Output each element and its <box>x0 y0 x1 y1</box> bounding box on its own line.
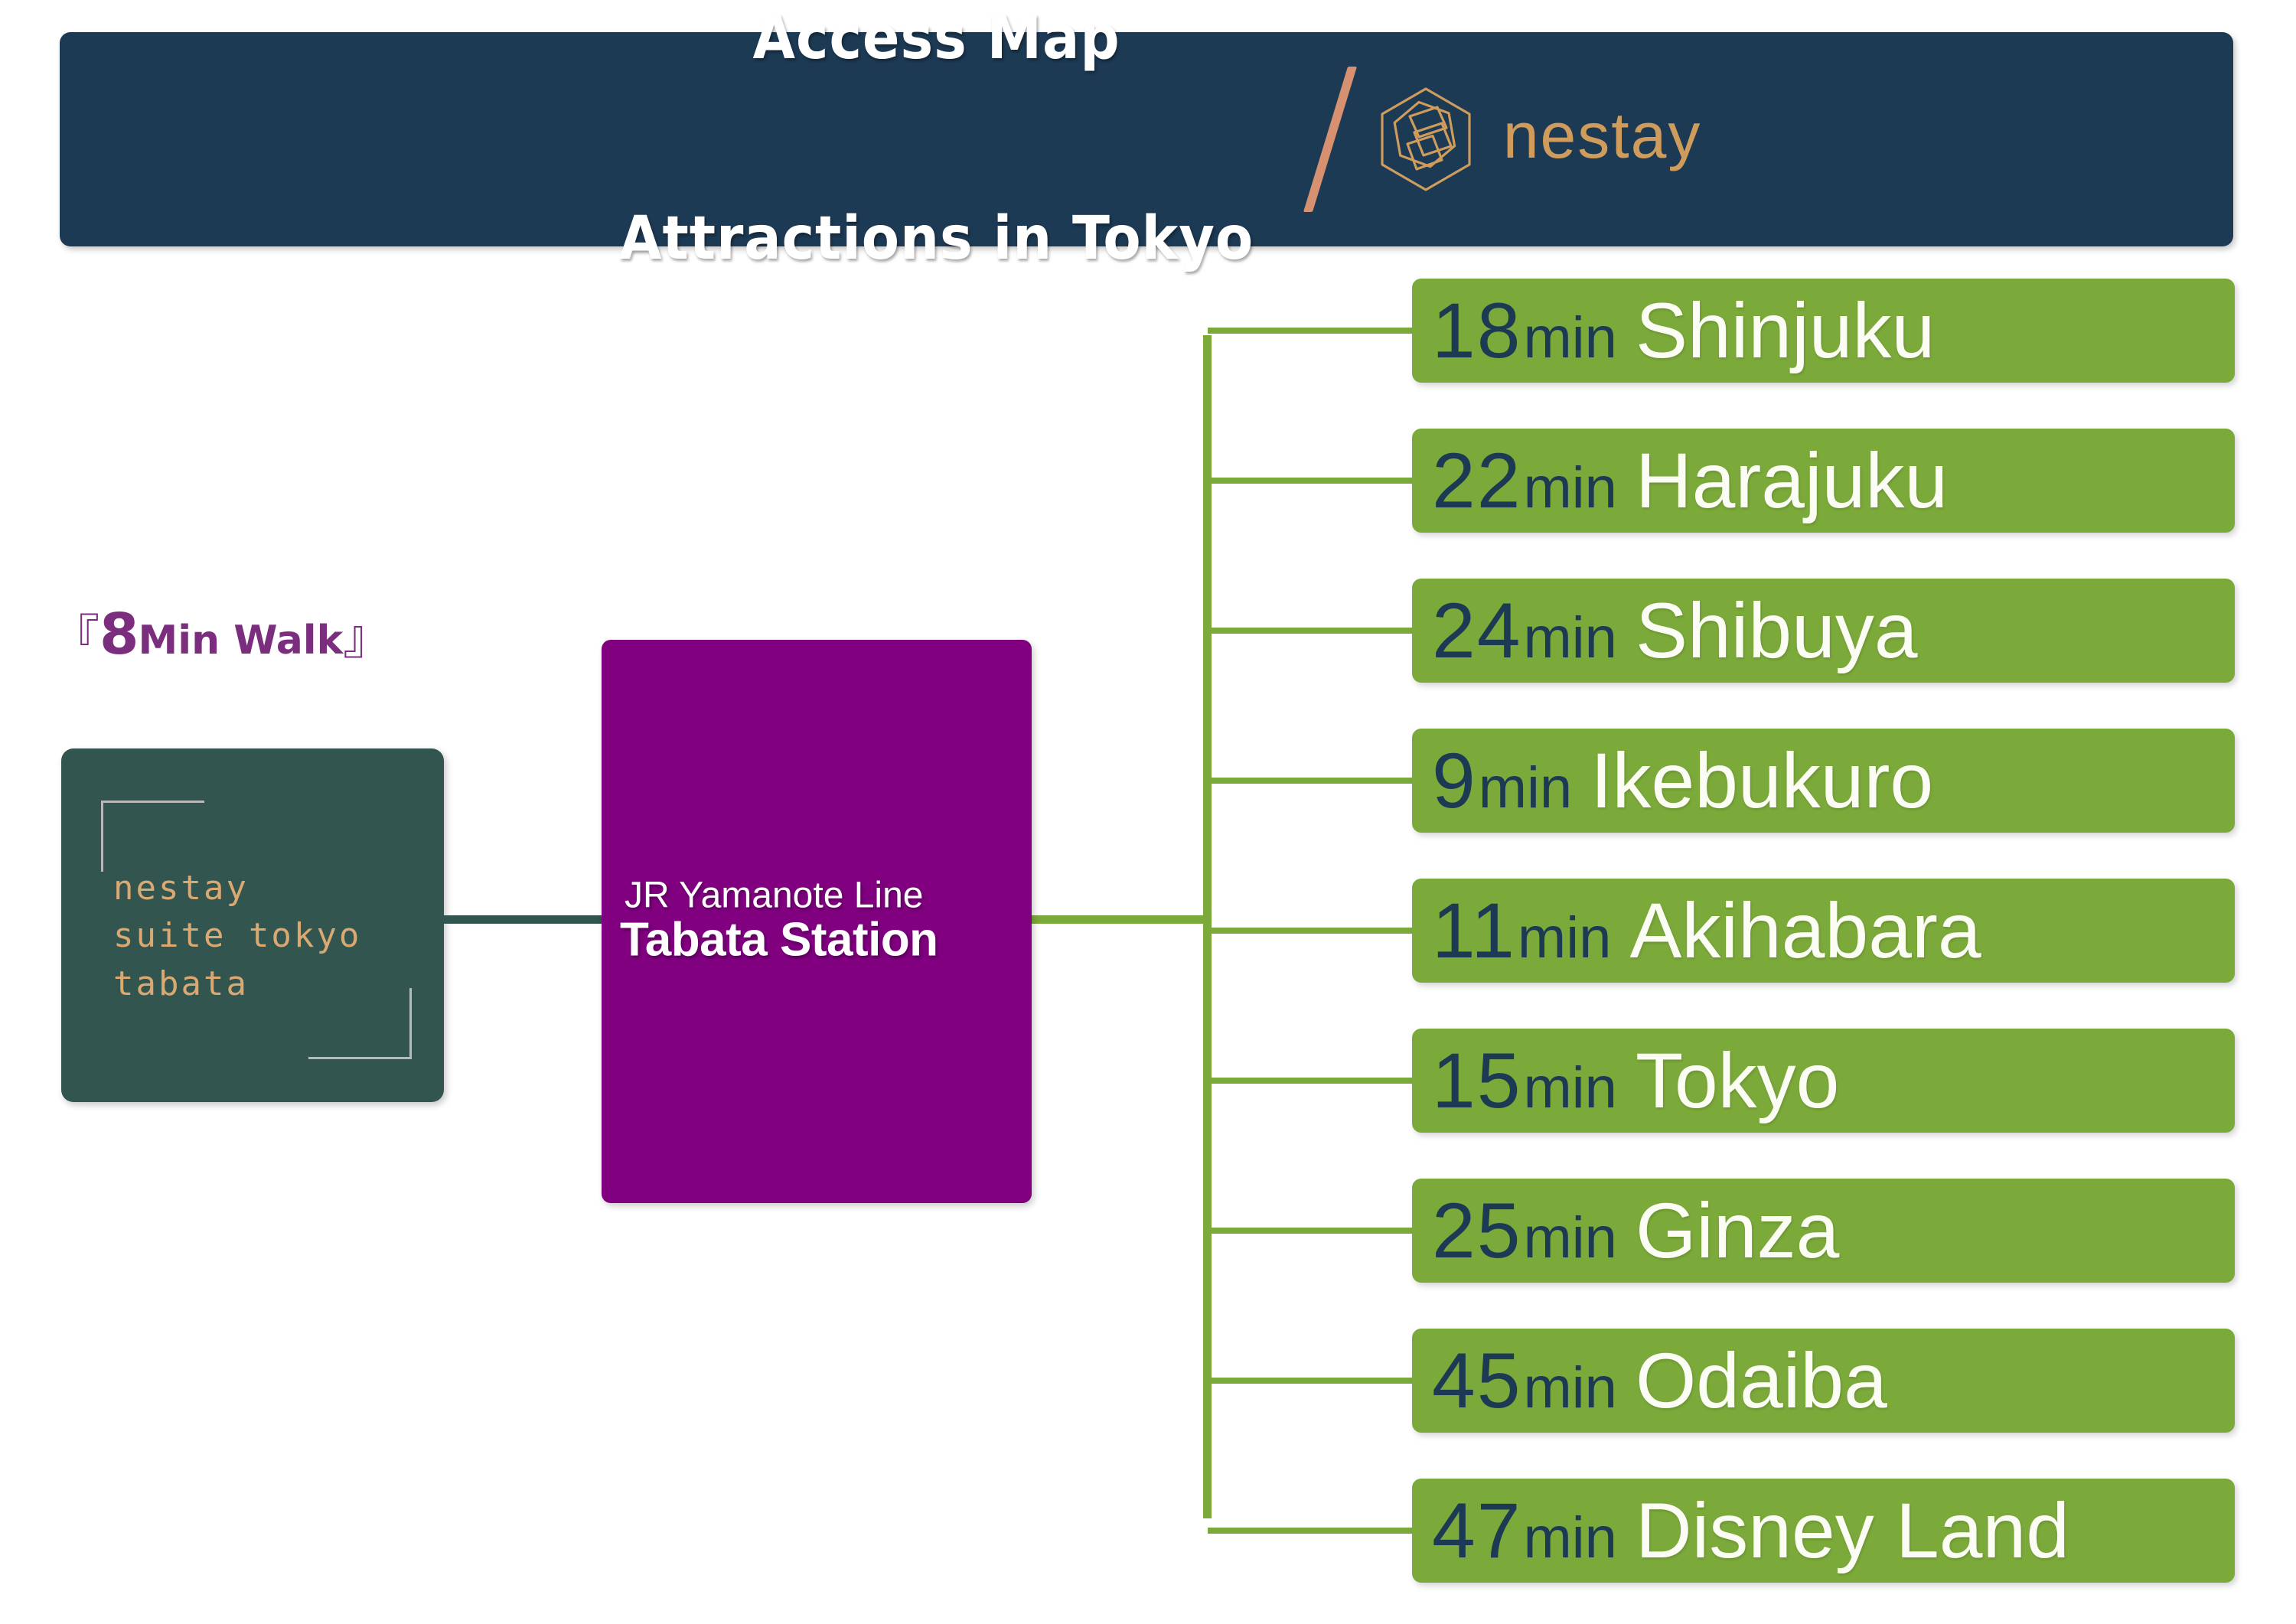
destination-name: Akihabara <box>1629 892 1981 970</box>
destination-bar-odaiba[interactable]: 45minOdaiba <box>1412 1329 2235 1433</box>
station-card: JR Yamanote Line Tabata Station <box>602 640 1032 1203</box>
destination-minutes: 47 <box>1432 1492 1521 1570</box>
destination-bar-shibuya[interactable]: 24minShibuya <box>1412 579 2235 683</box>
branch-connector-disney-land <box>1208 1528 1416 1534</box>
header-content: Access Map Attractions in Tokyo nestay <box>60 32 2233 246</box>
brand-logo: nestay <box>1368 82 1702 197</box>
destination-bar-ginza[interactable]: 25minGinza <box>1412 1179 2235 1283</box>
branch-connector-harajuku <box>1208 478 1416 484</box>
destination-minutes-unit: min <box>1518 909 1611 967</box>
destination-row: 18minShinjuku <box>1412 292 1935 370</box>
destination-row: 25minGinza <box>1412 1192 1839 1270</box>
walk-label-text: Min Walk <box>139 621 344 660</box>
destination-name: Harajuku <box>1636 442 1948 520</box>
destination-row: 45minOdaiba <box>1412 1342 1887 1420</box>
branch-connector-tokyo <box>1208 1078 1416 1084</box>
station-name: Tabata Station <box>608 915 1055 967</box>
walk-minutes: 8 <box>99 606 139 663</box>
branch-connector-shinjuku <box>1208 328 1416 334</box>
branch-connector-odaiba <box>1208 1378 1416 1384</box>
destination-name: Ginza <box>1636 1192 1839 1270</box>
destination-name: Shinjuku <box>1636 292 1935 370</box>
branch-connector-ginza <box>1208 1228 1416 1234</box>
destination-bar-tokyo[interactable]: 15minTokyo <box>1412 1029 2235 1133</box>
station-line-name: JR Yamanote Line <box>608 876 1055 915</box>
page-title-line-1: Access Map <box>619 5 1254 72</box>
destination-minutes-unit: min <box>1523 1509 1616 1567</box>
destination-bar-disney-land[interactable]: 47minDisney Land <box>1412 1479 2235 1583</box>
destination-name: Tokyo <box>1636 1042 1839 1120</box>
access-map-infographic: Access Map Attractions in Tokyo nestay <box>0 0 2296 1624</box>
destination-name: Odaiba <box>1636 1342 1887 1420</box>
destination-minutes: 11 <box>1432 892 1516 970</box>
destination-row: 15minTokyo <box>1412 1042 1839 1120</box>
destination-minutes: 18 <box>1432 292 1521 370</box>
destination-row: 24minShibuya <box>1412 592 1918 670</box>
destination-minutes: 25 <box>1432 1192 1521 1270</box>
destination-row: 11minAkihabara <box>1412 892 1981 970</box>
destination-minutes-unit: min <box>1523 609 1616 667</box>
connector-trunk-vertical <box>1203 335 1212 1518</box>
destination-minutes: 15 <box>1432 1042 1521 1120</box>
destination-minutes: 22 <box>1432 442 1521 520</box>
destination-minutes: 9 <box>1432 742 1477 820</box>
destination-name: Ikebukuro <box>1590 742 1933 820</box>
destination-row: 22minHarajuku <box>1412 442 1948 520</box>
property-name: nestay suite tokyo tabata <box>113 865 418 1008</box>
destination-bar-harajuku[interactable]: 22minHarajuku <box>1412 429 2235 533</box>
destination-minutes: 45 <box>1432 1342 1521 1420</box>
connector-property-to-station <box>442 915 608 924</box>
header-banner: Access Map Attractions in Tokyo nestay <box>60 32 2233 246</box>
page-title: Access Map Attractions in Tokyo <box>619 0 1254 406</box>
branch-connector-shibuya <box>1208 628 1416 634</box>
destination-row: 47minDisney Land <box>1412 1492 2069 1570</box>
slash-divider-icon <box>1303 67 1357 212</box>
brand-name: nestay <box>1503 103 1702 175</box>
page-title-line-2: Attractions in Tokyo <box>619 206 1254 272</box>
destination-minutes: 24 <box>1432 592 1521 670</box>
branch-connector-akihabara <box>1208 928 1416 934</box>
destination-minutes-unit: min <box>1523 1059 1616 1117</box>
property-card: nestay suite tokyo tabata <box>61 748 444 1102</box>
destination-minutes-unit: min <box>1523 1359 1616 1417</box>
destination-bar-ikebukuro[interactable]: 9minIkebukuro <box>1412 729 2235 833</box>
destination-name: Disney Land <box>1636 1492 2069 1570</box>
destination-bar-akihabara[interactable]: 11minAkihabara <box>1412 879 2235 983</box>
bracket-close: 』 <box>343 614 390 661</box>
station-card-text: JR Yamanote Line Tabata Station <box>608 876 1055 966</box>
destination-minutes-unit: min <box>1479 759 1572 817</box>
destination-minutes-unit: min <box>1523 1209 1616 1267</box>
bracket-open: 『 <box>52 614 99 661</box>
corner-bracket-top-left-icon <box>101 801 204 872</box>
nestay-hexagon-logo-icon <box>1368 82 1483 197</box>
destination-minutes-unit: min <box>1523 459 1616 517</box>
destination-name: Shibuya <box>1636 592 1918 670</box>
destination-minutes-unit: min <box>1523 309 1616 367</box>
destination-bar-shinjuku[interactable]: 18minShinjuku <box>1412 279 2235 383</box>
destination-row: 9minIkebukuro <box>1412 742 1933 820</box>
branch-connector-ikebukuro <box>1208 778 1416 784</box>
walk-time-label: 『 8 Min Walk 』 <box>52 606 390 663</box>
